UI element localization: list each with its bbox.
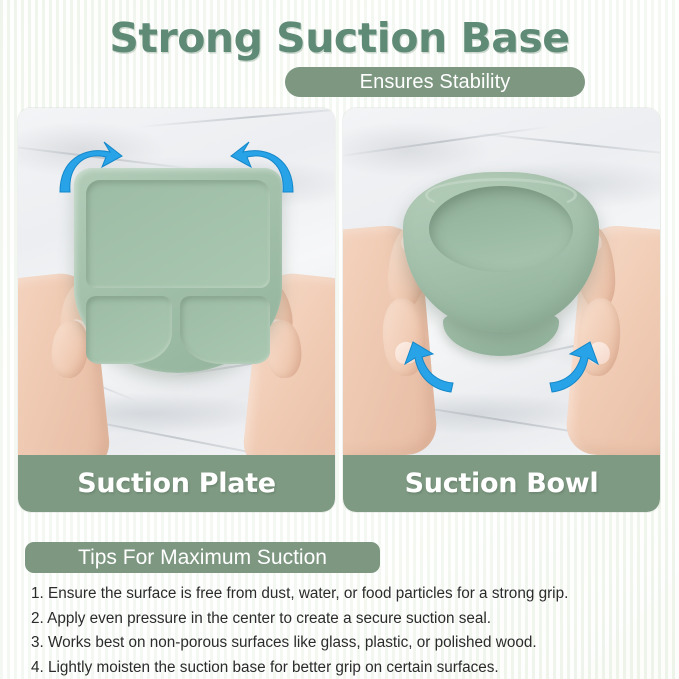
plate-caption-banner: Suction Plate [18, 455, 335, 512]
tip-item-3: 3. Works best on non-porous surfaces lik… [31, 631, 651, 656]
tip-item-2: 2. Apply even pressure in the center to … [31, 607, 651, 632]
suction-arrow-left-icon [54, 140, 124, 196]
suction-arrow-right-icon [229, 140, 299, 196]
panel-suction-bowl: Suction Bowl [343, 108, 660, 512]
subtitle-pill: Ensures Stability [285, 67, 585, 97]
tips-heading-text: Tips For Maximum Suction [78, 546, 327, 570]
suction-arrow-right-icon [546, 336, 602, 396]
plate-compartment-bottom-right [180, 296, 270, 364]
header: Strong Suction Base Ensures Stability [0, 0, 679, 104]
panel-suction-plate: Suction Plate [18, 108, 335, 512]
marble-vein [343, 125, 551, 158]
infographic-page: Strong Suction Base Ensures Stability [0, 0, 679, 679]
plate-photo [18, 108, 335, 455]
subtitle-text: Ensures Stability [360, 71, 511, 94]
suction-plate-product [74, 168, 282, 373]
plate-compartment-bottom-left [86, 296, 172, 364]
tip-item-4: 4. Lightly moisten the suction base for … [31, 656, 651, 679]
page-title: Strong Suction Base [0, 14, 679, 62]
tip-item-1: 1. Ensure the surface is free from dust,… [31, 582, 651, 607]
tips-list: 1. Ensure the surface is free from dust,… [31, 582, 651, 679]
plate-caption-text: Suction Plate [77, 468, 276, 499]
bowl-body [403, 172, 599, 332]
product-panels: Suction Plate [18, 108, 661, 512]
marble-vein [138, 108, 335, 128]
bowl-caption-banner: Suction Bowl [343, 455, 660, 512]
bowl-photo [343, 108, 660, 455]
bowl-rim [425, 178, 577, 212]
bowl-caption-text: Suction Bowl [405, 468, 599, 499]
tips-heading-pill: Tips For Maximum Suction [25, 542, 380, 573]
suction-arrow-left-icon [401, 336, 457, 396]
plate-compartment-top [86, 180, 270, 288]
marble-vein [473, 132, 660, 156]
